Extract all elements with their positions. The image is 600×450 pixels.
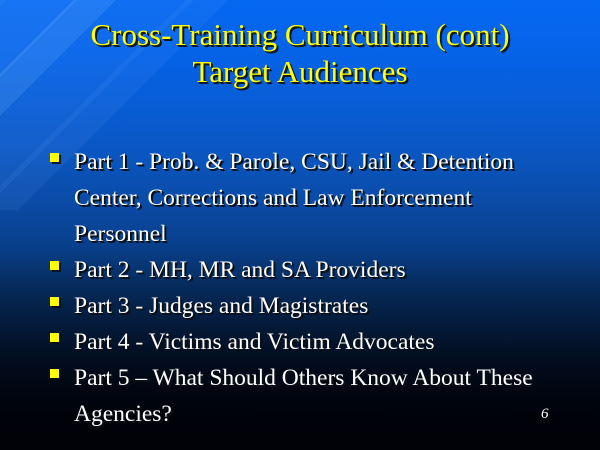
list-item: Part 2 - MH, MR and SA Providers [46,252,562,288]
slide-title-line-1: Cross-Training Curriculum (cont) [22,16,578,53]
slide-title-line-2: Target Audiences [22,53,578,90]
list-item-label: Part 3 - Judges and Magistrates [74,288,562,324]
slide-content: Cross-Training Curriculum (cont) Target … [0,0,600,450]
square-bullet-icon [50,333,59,342]
slide-title: Cross-Training Curriculum (cont) Target … [22,16,578,90]
square-bullet-icon [50,153,59,162]
square-bullet-icon [50,369,59,378]
list-item: Part 4 - Victims and Victim Advocates [46,324,562,360]
list-item: Part 3 - Judges and Magistrates [46,288,562,324]
slide-number: 6 [541,405,549,423]
bullet-list: Part 1 - Prob. & Parole, CSU, Jail & Det… [46,144,562,432]
square-bullet-icon [50,261,59,270]
list-item: Part 5 – What Should Others Know About T… [46,360,562,432]
list-item-label: Part 4 - Victims and Victim Advocates [74,324,562,360]
list-item: Part 1 - Prob. & Parole, CSU, Jail & Det… [46,144,562,252]
list-item-label: Part 2 - MH, MR and SA Providers [74,252,562,288]
list-item-label: Part 5 – What Should Others Know About T… [74,360,562,432]
square-bullet-icon [50,297,59,306]
presentation-slide: Cross-Training Curriculum (cont) Target … [0,0,600,450]
list-item-label: Part 1 - Prob. & Parole, CSU, Jail & Det… [74,144,562,252]
